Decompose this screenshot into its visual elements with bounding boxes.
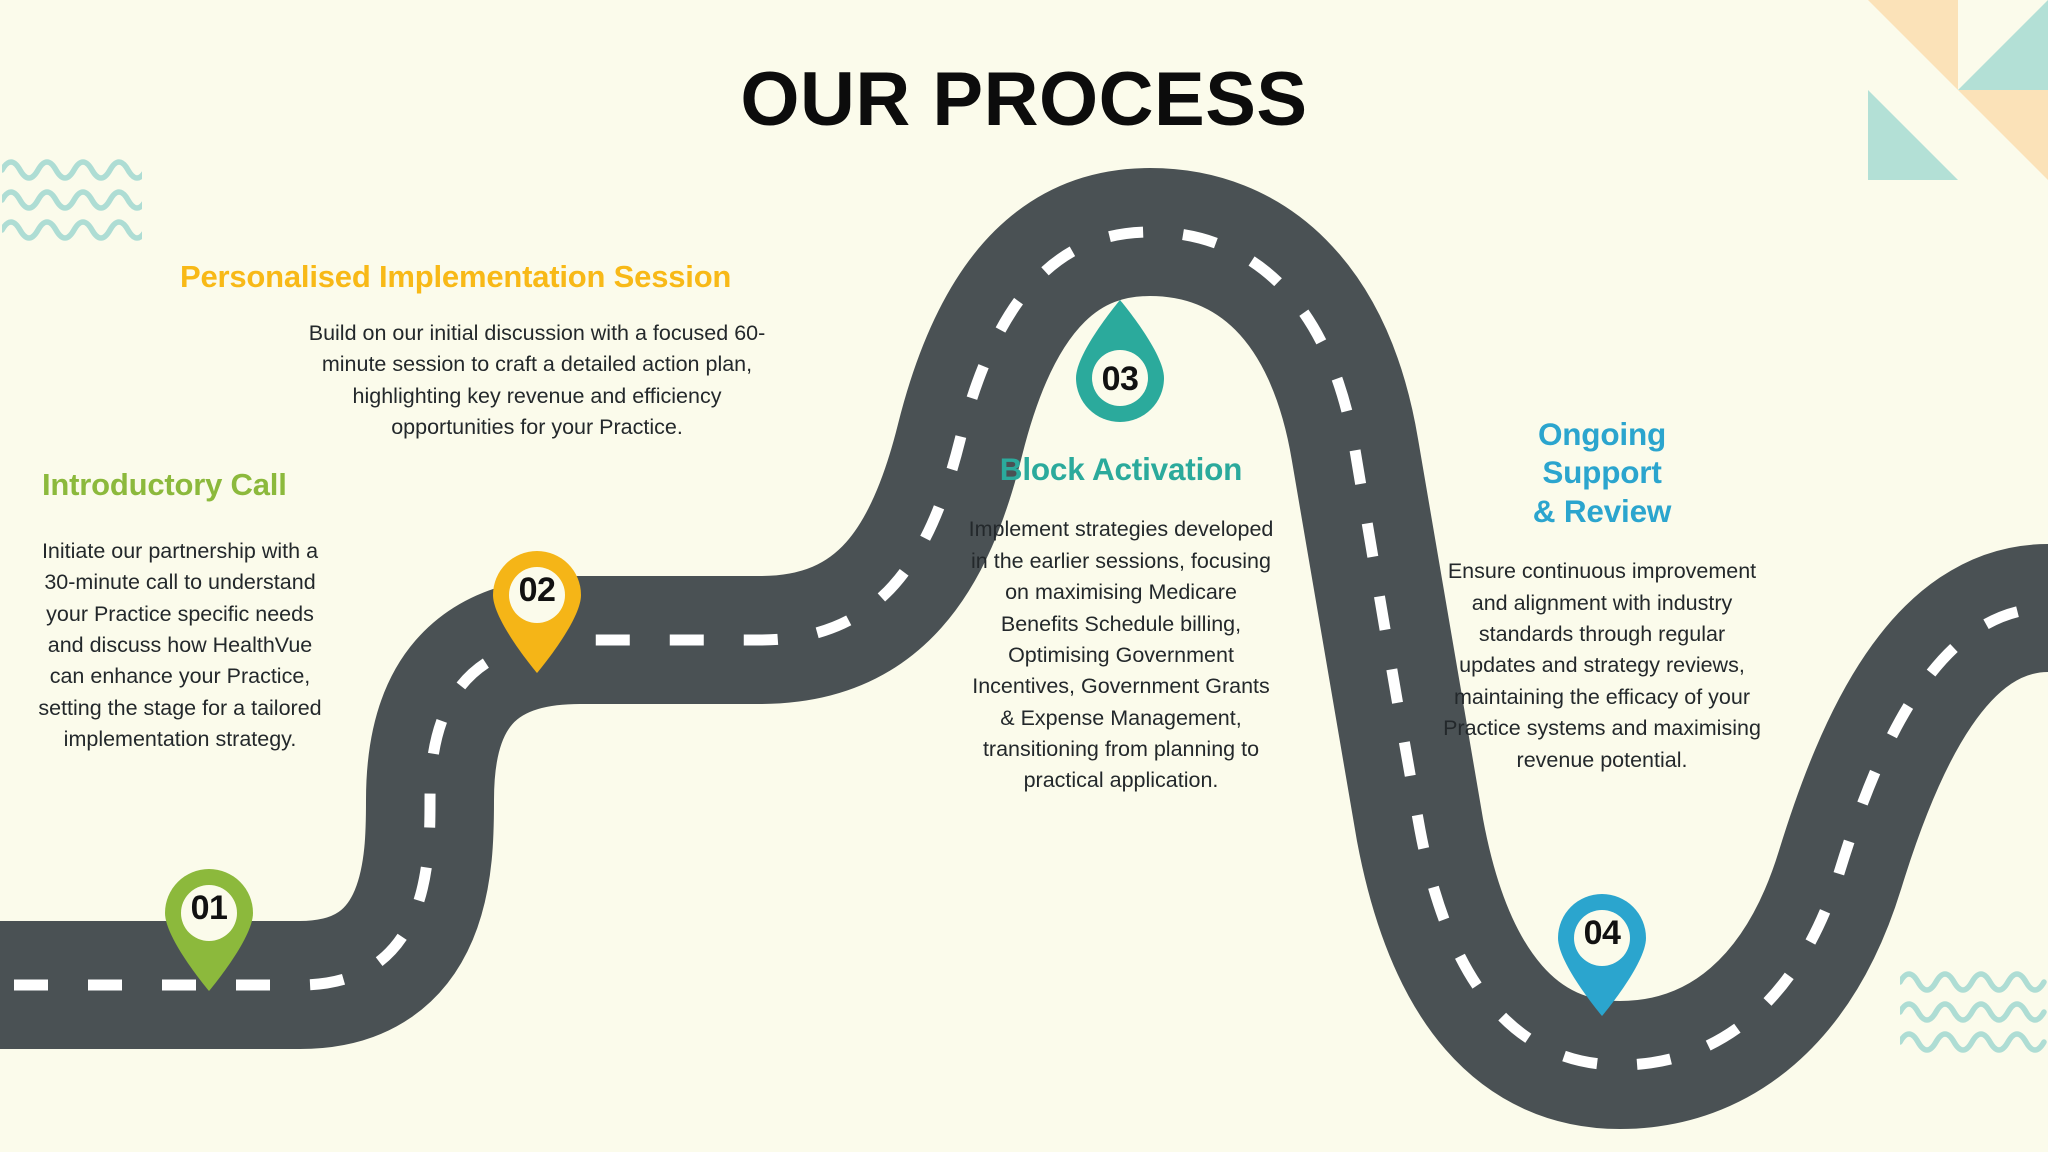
step-marker-04-number: 04: [1550, 914, 1654, 953]
map-pin-down-icon: [1550, 888, 1654, 1018]
step-marker-01-number: 01: [157, 889, 261, 928]
step-marker-02-number: 02: [485, 571, 589, 610]
step-2-title: Personalised Implementation Session: [180, 258, 880, 296]
step-marker-03[interactable]: 03: [1068, 298, 1172, 428]
step-block-3: Block Activation Implement strategies de…: [965, 450, 1277, 797]
step-block-1: Introductory Call Initiate our partnersh…: [36, 466, 336, 755]
step-4-body: Ensure continuous improvement and alignm…: [1442, 556, 1762, 776]
step-4-title: OngoingSupport& Review: [1442, 415, 1762, 530]
step-3-body: Implement strategies developed in the ea…: [965, 514, 1277, 796]
step-block-4: OngoingSupport& Review Ensure continuous…: [1442, 415, 1762, 776]
step-marker-04[interactable]: 04: [1550, 888, 1654, 1018]
step-marker-02[interactable]: 02: [485, 545, 589, 675]
map-pin-down-icon: [485, 545, 589, 675]
step-2-body: Build on our initial discussion with a f…: [302, 318, 772, 444]
page-title: OUR PROCESS: [0, 56, 2048, 143]
step-block-2: Personalised Implementation Session Buil…: [180, 258, 880, 443]
step-marker-03-number: 03: [1068, 360, 1172, 399]
step-3-title: Block Activation: [965, 450, 1277, 488]
step-1-title: Introductory Call: [36, 466, 336, 504]
step-marker-01[interactable]: 01: [157, 863, 261, 993]
step-1-body: Initiate our partnership with a 30-minut…: [36, 536, 324, 756]
map-pin-down-icon: [157, 863, 261, 993]
infographic-canvas: OUR PROCESS Introductory Call Initiate o…: [0, 0, 2048, 1152]
